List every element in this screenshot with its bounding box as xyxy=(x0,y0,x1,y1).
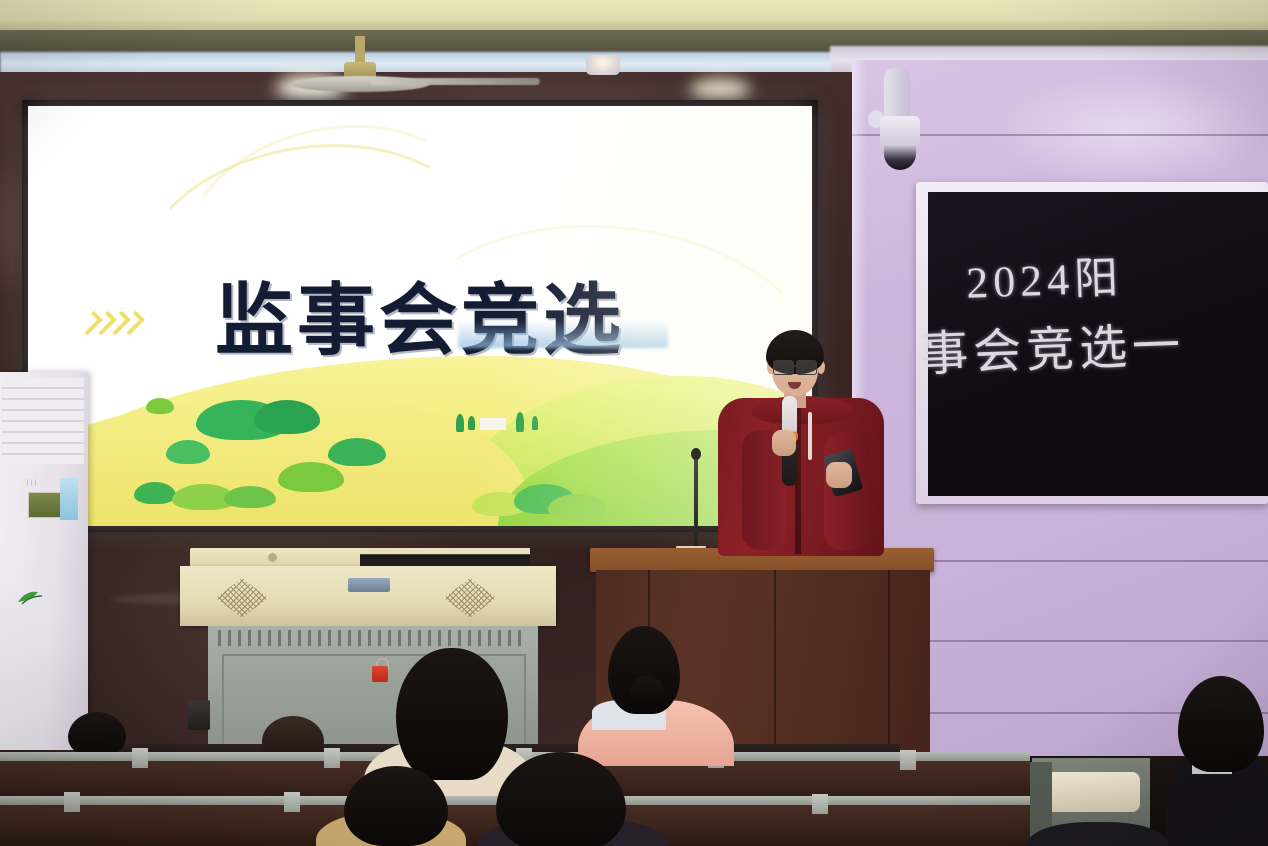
hoodie-drawstring xyxy=(808,412,812,460)
presenter-hand-holding-phone xyxy=(826,462,852,488)
air-conditioner-energy-label xyxy=(60,478,78,520)
eyeglasses-icon xyxy=(796,360,817,375)
air-conditioner-brand-mark: │││ xyxy=(26,480,38,486)
leaf-icon xyxy=(16,588,50,606)
wall-light-reflection xyxy=(980,70,1268,190)
blackboard-line-1: 2024阳 xyxy=(965,241,1124,310)
seat-divider xyxy=(900,750,916,770)
air-conditioner-leaf-logo-icon xyxy=(16,588,50,606)
seat-divider xyxy=(324,748,340,768)
padlock-icon[interactable] xyxy=(372,666,388,682)
audience-member-hair-bun xyxy=(630,676,664,706)
seat-divider xyxy=(284,792,300,812)
photograph-scene: 监事会竞选 2024阳 事会竞选一 │ xyxy=(0,0,1268,846)
console-vent-slots xyxy=(218,630,528,646)
air-conditioner-grille xyxy=(2,378,84,464)
cabinet-knob[interactable] xyxy=(268,553,277,562)
audience-member-front-left xyxy=(396,648,508,780)
eyeglasses-bridge xyxy=(791,365,797,367)
seat-divider xyxy=(64,792,80,812)
gooseneck-microphone-head-icon xyxy=(691,448,701,460)
audience-member-back-left xyxy=(68,712,126,756)
ceiling xyxy=(0,0,1268,34)
cabinet-badge-plate xyxy=(348,578,390,592)
seat-divider xyxy=(812,794,828,814)
ceiling-fan-blade xyxy=(370,78,540,85)
floor-device xyxy=(188,700,210,730)
blackboard-line-2: 事会竞选一 xyxy=(919,305,1186,384)
recessed-downlight-icon xyxy=(586,55,620,75)
seat-divider xyxy=(132,748,148,768)
presenter-eyebrow xyxy=(775,356,790,358)
presenter-eyebrow xyxy=(798,356,813,358)
blackboard: 2024阳 事会竞选一 xyxy=(928,192,1268,496)
eyeglasses-icon xyxy=(773,360,794,375)
presenter-hand-holding-microphone xyxy=(772,430,796,456)
seat-cushion-right xyxy=(1044,772,1140,812)
gooseneck-microphone-stem xyxy=(694,452,698,550)
